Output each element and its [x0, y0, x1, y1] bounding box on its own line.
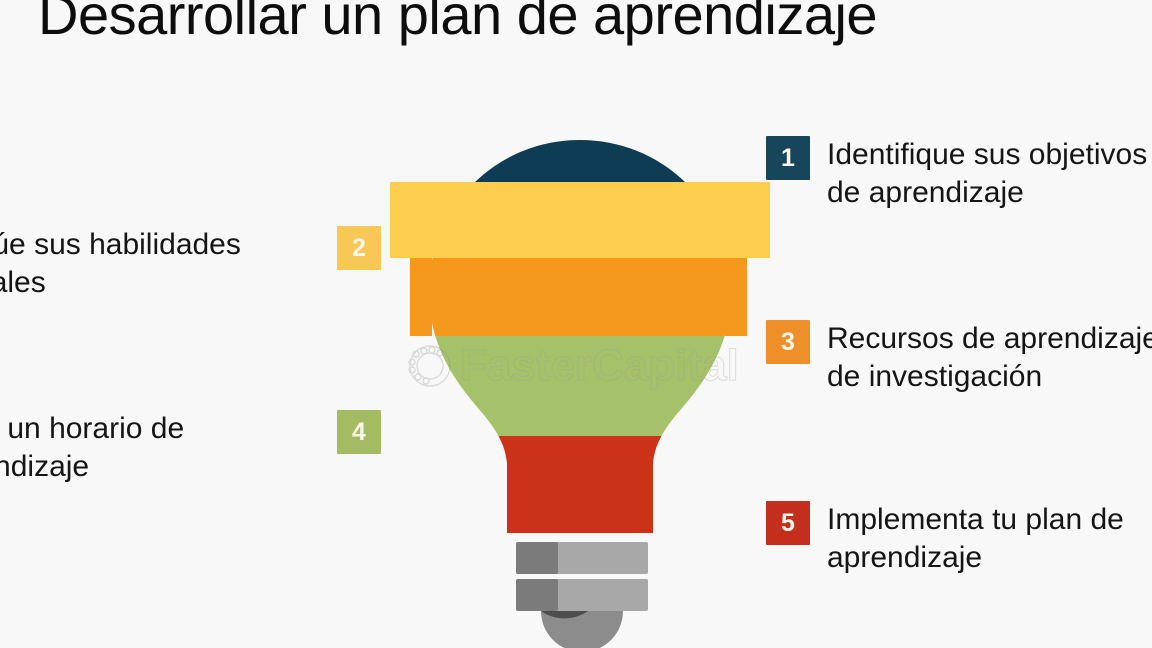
callout-badge-4: 4 [337, 410, 381, 454]
bulb-segment-3-extension-left [410, 258, 432, 336]
page-title: Desarrollar un plan de aprendizaje [38, 0, 877, 45]
bulb-base-ring-1-shade [516, 542, 558, 574]
callout-text-2: Evalúe sus habilidades actuales [0, 226, 320, 302]
bulb-base [516, 542, 648, 648]
callout-badge-1: 1 [766, 136, 810, 180]
bulb-segment-5 [390, 436, 770, 546]
callout-text-3: Recursos de aprendizaje de investigación [827, 320, 1152, 396]
callout-text-1: Identifique sus objetivos de aprendizaje [827, 136, 1152, 212]
bulb-segment-1 [390, 118, 770, 182]
callout-text-5: Implementa tu plan de aprendizaje [827, 501, 1152, 577]
callout-item-2[interactable]: Evalúe sus habilidades actuales 2 [0, 226, 381, 302]
bulb-segment-4 [390, 336, 770, 436]
bulb-segment-3 [390, 258, 770, 336]
callout-item-1[interactable]: 1 Identifique sus objetivos de aprendiza… [766, 136, 1152, 212]
bulb-segment-2 [390, 182, 770, 258]
bulb-base-ring-2-shade [516, 579, 558, 611]
callout-item-5[interactable]: 5 Implementa tu plan de aprendizaje [766, 501, 1152, 577]
callout-badge-5: 5 [766, 501, 810, 545]
callout-item-3[interactable]: 3 Recursos de aprendizaje de investigaci… [766, 320, 1152, 396]
callout-text-4: Crea un horario de aprendizaje [0, 410, 320, 486]
infographic-slide: Desarrollar un plan de aprendizaje [0, 0, 1152, 648]
lightbulb-diagram [390, 118, 770, 648]
callout-badge-2: 2 [337, 226, 381, 270]
callout-item-4[interactable]: Crea un horario de aprendizaje 4 [0, 410, 381, 486]
callout-badge-3: 3 [766, 320, 810, 364]
bulb-segment-3-extension [725, 258, 747, 336]
